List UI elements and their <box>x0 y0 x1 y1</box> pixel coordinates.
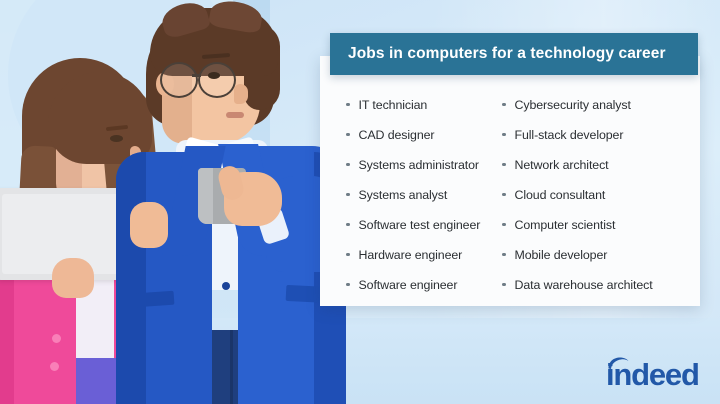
man-nose <box>234 84 248 104</box>
glasses-icon <box>160 62 198 98</box>
bullet-icon <box>346 253 350 257</box>
list-item[interactable]: Full-stack developer <box>502 120 700 150</box>
man-lips <box>226 112 244 118</box>
glasses-bridge <box>192 74 201 77</box>
list-item-label: Network architect <box>515 150 609 180</box>
list-item-label: Data warehouse architect <box>515 270 653 300</box>
glasses-lens-right <box>198 62 236 98</box>
list-item[interactable]: IT technician <box>346 90 498 120</box>
bullet-icon <box>502 253 506 257</box>
man-left-hand <box>130 202 168 248</box>
jobs-left-column: IT technician CAD designer Systems admin… <box>320 90 498 306</box>
bullet-icon <box>346 103 350 107</box>
bullet-icon <box>502 283 506 287</box>
jobs-card-header: Jobs in computers for a technology caree… <box>330 33 698 75</box>
list-item-label: Systems analyst <box>359 180 448 210</box>
list-item[interactable]: Data warehouse architect <box>502 270 700 300</box>
list-item[interactable]: Software test engineer <box>346 210 498 240</box>
bullet-icon <box>502 223 506 227</box>
list-item[interactable]: Systems analyst <box>346 180 498 210</box>
list-item-label: Systems administrator <box>359 150 479 180</box>
list-item-label: Full-stack developer <box>515 120 624 150</box>
indeed-logo-text: indeed <box>606 358 699 392</box>
list-item-label: Software test engineer <box>359 210 481 240</box>
list-item[interactable]: Network architect <box>502 150 700 180</box>
man-trousers-seam <box>230 330 233 404</box>
bullet-icon <box>502 163 506 167</box>
list-item-label: CAD designer <box>359 120 435 150</box>
man-jacket-left-shadow <box>116 152 146 404</box>
list-item[interactable]: CAD designer <box>346 120 498 150</box>
list-item-label: Hardware engineer <box>359 240 463 270</box>
coffee-mug-highlight <box>198 168 213 224</box>
jobs-card-body: IT technician CAD designer Systems admin… <box>320 84 700 306</box>
woman-blazer-button-top <box>52 334 61 343</box>
list-item-label: Software engineer <box>359 270 458 300</box>
slide-canvas: Jobs in computers for a technology caree… <box>0 0 720 404</box>
indeed-logo[interactable]: indeed <box>606 358 706 394</box>
jobs-right-column: Cybersecurity analyst Full-stack develop… <box>498 90 700 306</box>
list-item[interactable]: Systems administrator <box>346 150 498 180</box>
woman-hand-on-laptop <box>52 258 94 298</box>
bullet-icon <box>502 193 506 197</box>
list-item[interactable]: Mobile developer <box>502 240 700 270</box>
list-item[interactable]: Computer scientist <box>502 210 700 240</box>
list-item-label: Computer scientist <box>515 210 616 240</box>
bullet-icon <box>346 133 350 137</box>
man-eye <box>208 72 220 79</box>
illustration-man-with-mug <box>118 0 348 404</box>
bullet-icon <box>346 163 350 167</box>
list-item-label: Mobile developer <box>515 240 608 270</box>
list-item[interactable]: Cybersecurity analyst <box>502 90 700 120</box>
bullet-icon <box>346 193 350 197</box>
page-title: Jobs in computers for a technology caree… <box>330 45 666 63</box>
list-item-label: Cloud consultant <box>515 180 606 210</box>
man-jacket-pocket-left <box>136 291 175 308</box>
list-item-label: IT technician <box>359 90 428 120</box>
list-item-label: Cybersecurity analyst <box>515 90 631 120</box>
bullet-icon <box>502 103 506 107</box>
list-item[interactable]: Cloud consultant <box>502 180 700 210</box>
list-item[interactable]: Software engineer <box>346 270 498 300</box>
list-item[interactable]: Hardware engineer <box>346 240 498 270</box>
bullet-icon <box>502 133 506 137</box>
man-jacket-button <box>222 282 230 290</box>
bullet-icon <box>346 223 350 227</box>
woman-blazer-button-bottom <box>50 362 59 371</box>
bullet-icon <box>346 283 350 287</box>
